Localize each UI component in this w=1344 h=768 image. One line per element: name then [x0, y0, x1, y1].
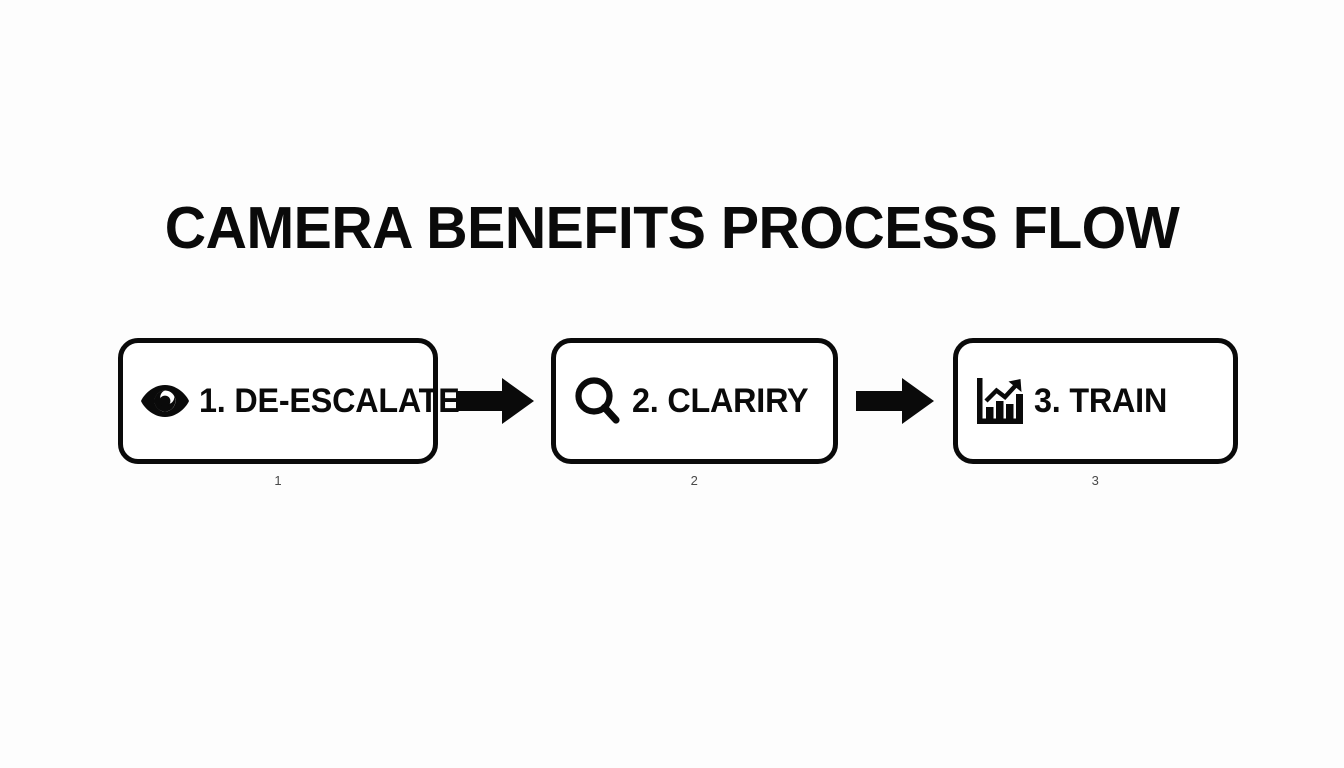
process-flow: 1. DE-ESCALATE 1 2. CLARIRY 2: [118, 338, 1238, 464]
diagram-canvas: CAMERA BENEFITS PROCESS FLOW 1. DE-ESCAL…: [0, 0, 1344, 768]
process-step-1-label: 1. DE-ESCALATE: [199, 383, 460, 419]
process-step-1[interactable]: 1. DE-ESCALATE 1: [118, 338, 438, 464]
magnifier-icon: [572, 375, 624, 427]
process-step-2-label: 2. CLARIRY: [632, 383, 808, 419]
process-step-2[interactable]: 2. CLARIRY 2: [551, 338, 838, 464]
process-step-1-caption: 1: [123, 473, 433, 489]
arrow-right-icon: [856, 378, 934, 424]
bar-chart-up-icon: [974, 375, 1026, 427]
process-step-3[interactable]: 3. TRAIN 3: [953, 338, 1239, 464]
eye-icon: [139, 375, 191, 427]
connector-2: [838, 338, 953, 464]
arrow-right-icon: [456, 378, 534, 424]
process-step-3-label: 3. TRAIN: [1034, 383, 1167, 419]
process-step-3-caption: 3: [958, 473, 1234, 489]
page-title: CAMERA BENEFITS PROCESS FLOW: [20, 196, 1324, 260]
process-step-2-caption: 2: [556, 473, 833, 489]
